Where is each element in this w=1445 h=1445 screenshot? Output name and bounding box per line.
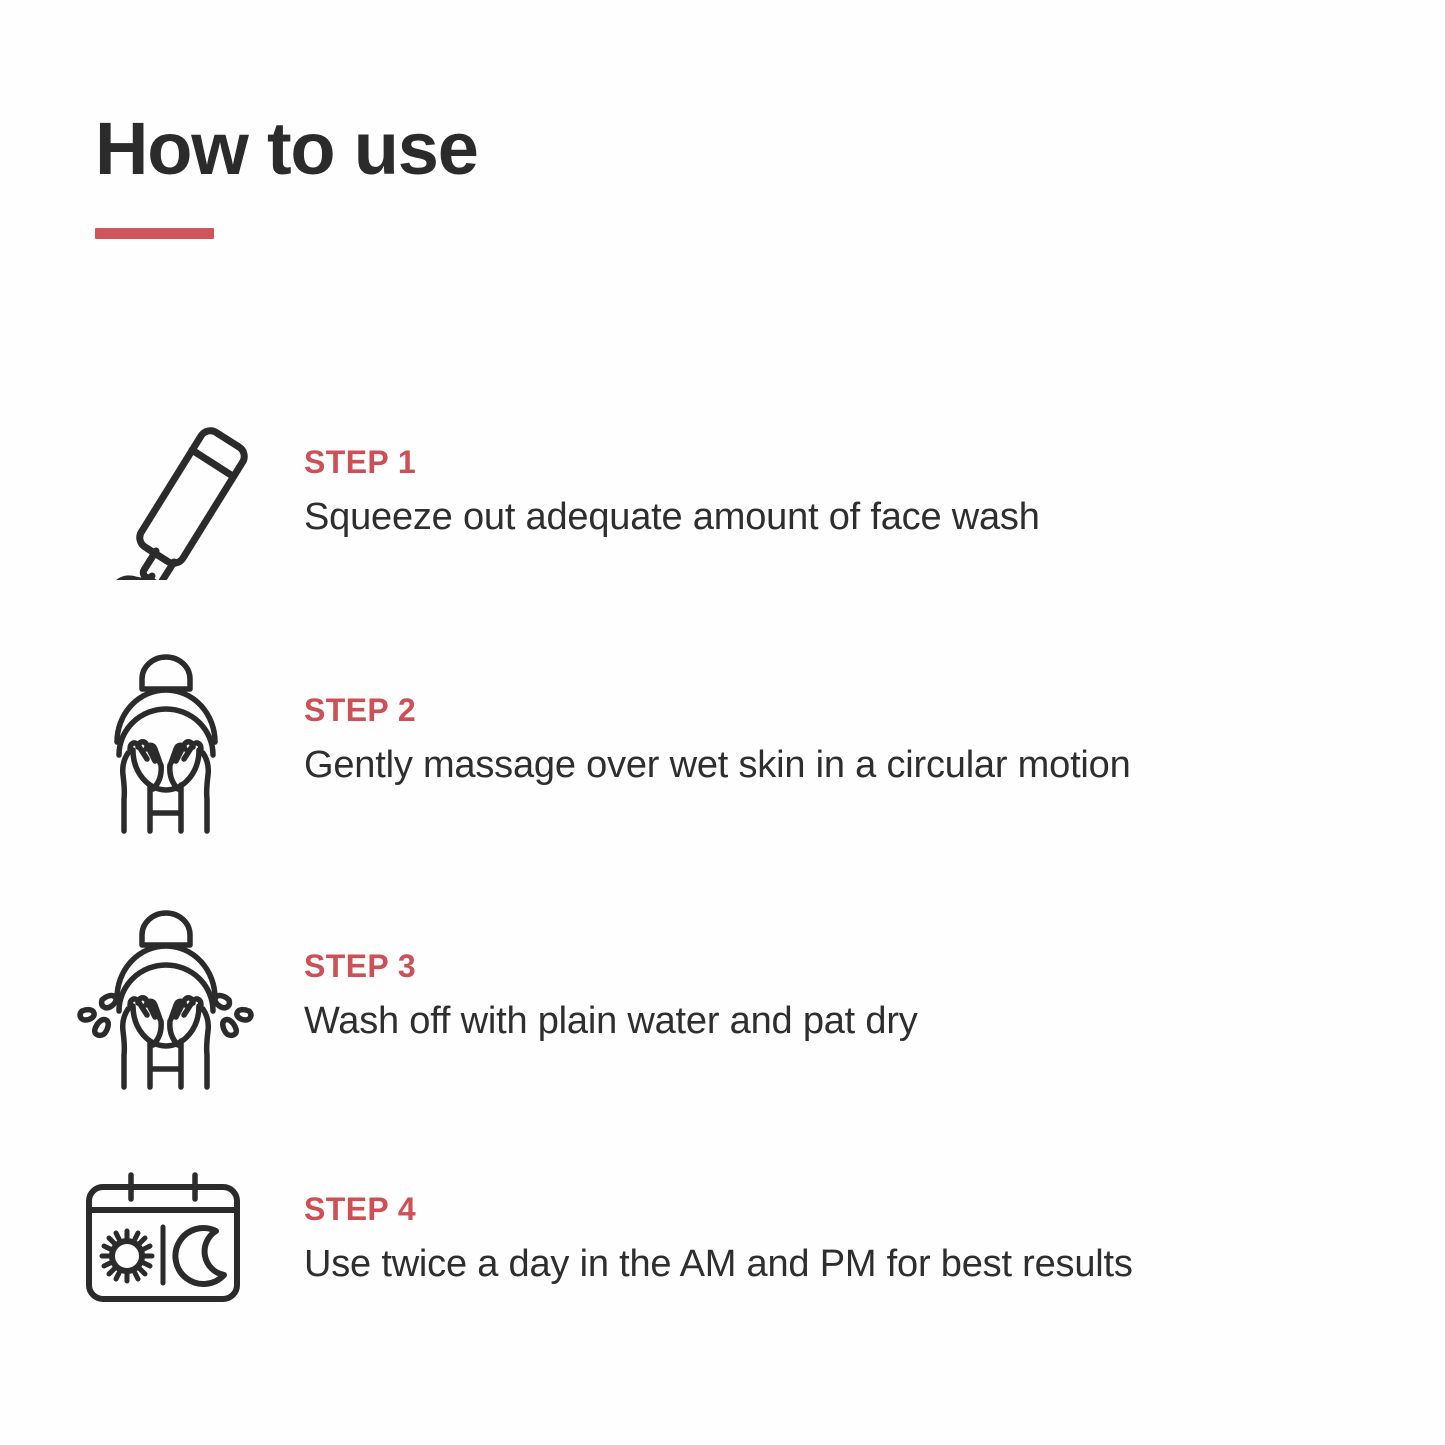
list-item: STEP 2 Gently massage over wet skin in a… bbox=[0, 612, 1445, 868]
page-title: How to use bbox=[95, 112, 478, 186]
step-3-text: STEP 3 Wash off with plain water and pat… bbox=[300, 949, 918, 1044]
step-description: Gently massage over wet skin in a circul… bbox=[304, 744, 1131, 788]
step-2-text: STEP 2 Gently massage over wet skin in a… bbox=[300, 693, 1131, 788]
steps-list: STEP 1 Squeeze out adequate amount of fa… bbox=[0, 372, 1445, 1354]
step-label: STEP 2 bbox=[304, 693, 1131, 728]
calendar-sun-moon-icon bbox=[83, 1169, 248, 1309]
step-description: Use twice a day in the AM and PM for bes… bbox=[304, 1243, 1133, 1287]
title-accent-rule bbox=[95, 228, 214, 239]
step-2-icon-wrap bbox=[0, 635, 300, 845]
step-label: STEP 1 bbox=[304, 445, 1040, 480]
heading-block: How to use bbox=[95, 112, 478, 239]
list-item: STEP 4 Use twice a day in the AM and PM … bbox=[0, 1124, 1445, 1354]
step-label: STEP 3 bbox=[304, 949, 918, 984]
step-description: Squeeze out adequate amount of face wash bbox=[304, 496, 1040, 540]
how-to-use-panel: How to use bbox=[0, 0, 1445, 1445]
step-1-text: STEP 1 Squeeze out adequate amount of fa… bbox=[300, 445, 1040, 540]
face-massage-icon bbox=[98, 645, 233, 835]
step-label: STEP 4 bbox=[304, 1192, 1133, 1227]
step-3-icon-wrap bbox=[0, 891, 300, 1101]
step-4-icon-wrap bbox=[0, 1134, 300, 1344]
list-item: STEP 3 Wash off with plain water and pat… bbox=[0, 868, 1445, 1124]
tube-squeeze-icon bbox=[80, 405, 250, 580]
face-rinse-water-icon bbox=[73, 901, 258, 1091]
step-1-icon-wrap bbox=[0, 387, 300, 597]
list-item: STEP 1 Squeeze out adequate amount of fa… bbox=[0, 372, 1445, 612]
step-description: Wash off with plain water and pat dry bbox=[304, 1000, 918, 1044]
step-4-text: STEP 4 Use twice a day in the AM and PM … bbox=[300, 1192, 1133, 1287]
